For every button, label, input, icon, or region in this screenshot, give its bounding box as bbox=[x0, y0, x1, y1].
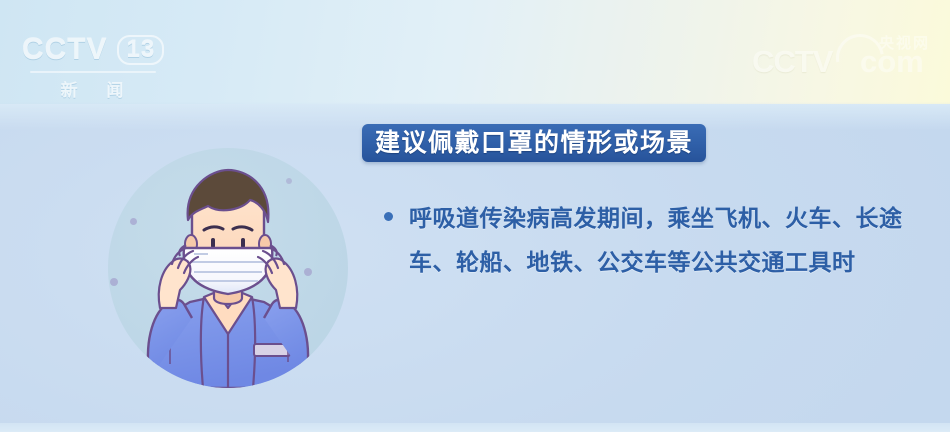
cctvcom-watermark: CCTV 央视网 com bbox=[752, 30, 932, 82]
bullet-item-text: 呼吸道传染病高发期间，乘坐飞机、火车、长途车、轮船、地铁、公交车等公共交通工具时 bbox=[409, 196, 929, 284]
title-banner: 建议佩戴口罩的情形或场景 bbox=[362, 124, 706, 162]
page-title: 建议佩戴口罩的情形或场景 bbox=[375, 129, 693, 157]
cctv-slash-icon bbox=[108, 37, 117, 64]
cctv13-wordmark: CCTV 13 bbox=[26, 30, 160, 70]
bullet-point-icon bbox=[384, 212, 393, 221]
cctv-underline-rule bbox=[30, 71, 156, 73]
bullet-list-item: 呼吸道传染病高发期间，乘坐飞机、火车、长途车、轮船、地铁、公交车等公共交通工具时 bbox=[384, 196, 929, 284]
bottom-strip bbox=[0, 423, 950, 432]
cctv-brand-text: CCTV bbox=[22, 33, 108, 67]
broadcast-graphic: CCTV 13 新 闻 CCTV 央视网 com bbox=[0, 0, 950, 432]
person-figure-graphic bbox=[108, 148, 348, 388]
cctv-channel-name: 新 闻 bbox=[26, 76, 160, 101]
person-wearing-mask-illustration bbox=[108, 148, 348, 388]
illustration-circle bbox=[108, 148, 348, 388]
cctv-channel-number: 13 bbox=[117, 35, 164, 65]
cctvcom-suffix-text: com bbox=[860, 44, 924, 80]
cctvcom-brand-text: CCTV bbox=[752, 44, 832, 80]
cctv13-watermark: CCTV 13 新 闻 bbox=[26, 30, 160, 96]
